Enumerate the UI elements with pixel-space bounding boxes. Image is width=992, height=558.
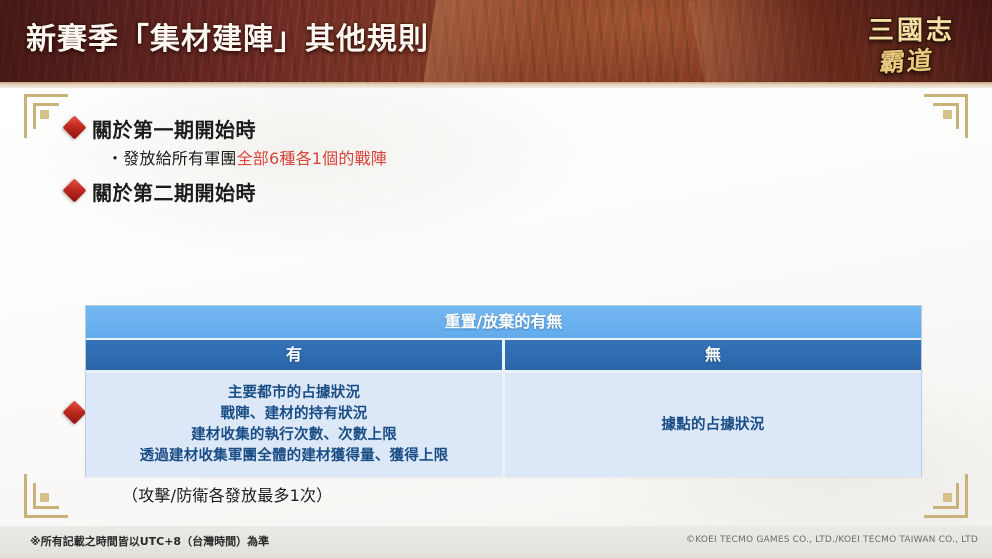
diamond-bullet-icon [62, 178, 86, 202]
table-cell-line: 據點的占據狀況 [662, 415, 765, 436]
table-cell-no: 據點的占據狀況 [505, 373, 921, 477]
diamond-bullet-icon [62, 400, 86, 424]
section-heading-text: 關於第一期開始時 [92, 114, 256, 143]
table-cell-line: 建材收集的執行次數、次數上限 [191, 425, 397, 446]
ornament-corner-bottom-right [924, 474, 968, 518]
table-body: 主要都市的占據狀況 戰陣、建材的持有狀況 建材收集的執行次數、次數上限 透過建材… [86, 370, 921, 477]
section-one-detail-line: ・發放給所有軍團全部6種各1個的戰陣 [107, 145, 387, 169]
section-heading-phase-two: 關於第二期開始時 [66, 177, 256, 206]
content-panel: 關於第一期開始時 ・發放給所有軍團全部6種各1個的戰陣 關於第二期開始時 關於建… [0, 88, 992, 526]
table-column-headers: 有 無 [86, 340, 921, 370]
table-title: 重置/放棄的有無 [86, 306, 921, 340]
footer-copyright: ©KOEI TECMO GAMES CO., LTD./KOEI TECMO T… [686, 535, 978, 545]
ornament-corner-bottom-left [24, 474, 68, 518]
table-cell-line: 透過建材收集軍團全體的建材獲得量、獲得上限 [140, 446, 449, 467]
table-cell-line: 主要都市的占據狀況 [228, 383, 360, 404]
bullet-dot: ・ [107, 149, 123, 168]
section-heading-text: 關於第二期開始時 [92, 177, 256, 206]
diamond-bullet-icon [62, 115, 86, 139]
table-cell-yes: 主要都市的占據狀況 戰陣、建材的持有狀況 建材收集的執行次數、次數上限 透過建材… [86, 373, 505, 477]
game-logo: 三國志 霸道 [854, 2, 984, 88]
footer-timezone-note: ※所有記載之時間皆以UTC+8（台灣時間）為準 [30, 533, 269, 549]
rules-comparison-table: 重置/放棄的有無 有 無 主要都市的占據狀況 戰陣、建材的持有狀況 建材收集的執… [85, 305, 922, 477]
section-one-text-black: 發放給所有軍團 [123, 149, 236, 168]
section-three-line-3: （攻擊/防衛各發放最多1次） [122, 482, 332, 506]
section-one-text-red: 全部6種各1個的戰陣 [237, 149, 387, 168]
page-header: 新賽季「集材建陣」其他規則 三國志 霸道 [0, 0, 992, 88]
header-texture-sheen [419, 0, 561, 88]
page-footer: ※所有記載之時間皆以UTC+8（台灣時間）為準 ©KOEI TECMO GAME… [0, 526, 992, 558]
ornament-corner-top-right [924, 94, 968, 138]
logo-title-sub: 霸道 [879, 41, 936, 80]
table-column-header-no: 無 [505, 340, 921, 370]
table-column-header-yes: 有 [86, 340, 505, 370]
page-title: 新賽季「集材建陣」其他規則 [26, 14, 429, 58]
ornament-corner-top-left [24, 94, 68, 138]
section-heading-phase-one: 關於第一期開始時 [66, 114, 256, 143]
table-cell-line: 戰陣、建材的持有狀況 [221, 404, 368, 425]
